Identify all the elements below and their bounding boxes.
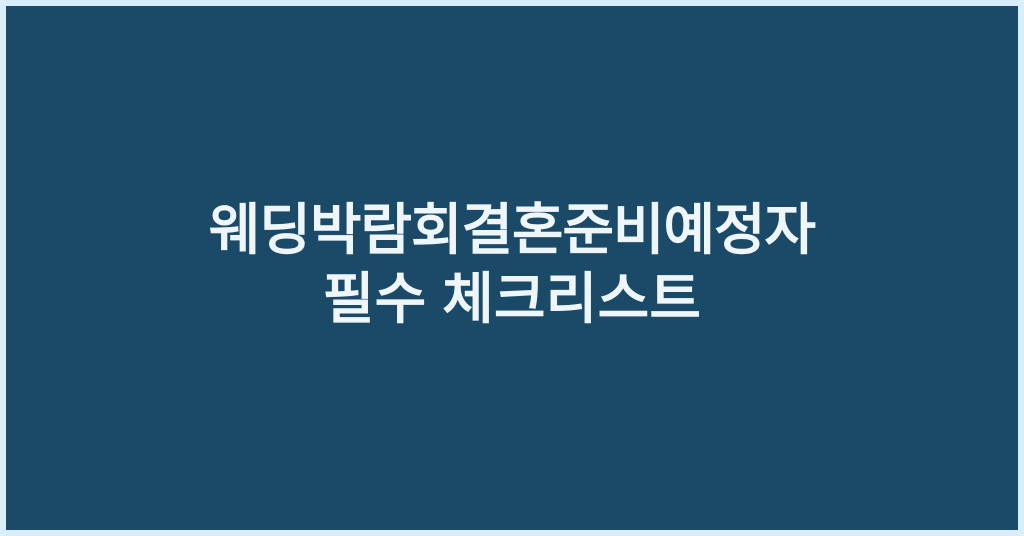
banner-panel: 웨딩박람회결혼준비예정자 필수 체크리스트 <box>6 6 1018 530</box>
headline-line-1: 웨딩박람회결혼준비예정자 <box>6 199 1018 262</box>
headline-block: 웨딩박람회결혼준비예정자 필수 체크리스트 <box>6 199 1018 330</box>
headline-line-2: 필수 체크리스트 <box>6 268 1018 331</box>
banner-canvas: 웨딩박람회결혼준비예정자 필수 체크리스트 <box>0 0 1024 536</box>
